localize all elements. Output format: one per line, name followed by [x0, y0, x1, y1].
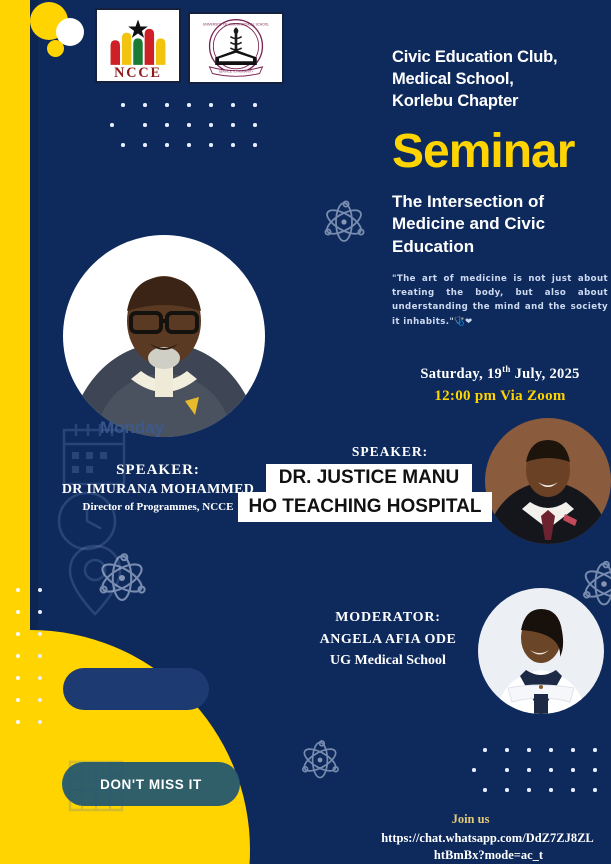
whatsapp-link-line2[interactable]: htBmBx?mode=ac_t	[366, 847, 611, 864]
moderator-photo	[478, 588, 604, 714]
speaker-two-photo	[485, 418, 611, 544]
dot-grid-bottom-right	[483, 748, 611, 808]
svg-text:NCCE: NCCE	[114, 65, 162, 81]
ncce-logo: NCCE	[95, 8, 181, 83]
svg-text:SERVICE TO HUMANITY: SERVICE TO HUMANITY	[219, 70, 254, 74]
speaker-two-portrait	[485, 418, 611, 544]
speaker-one-photo	[63, 235, 265, 437]
speaker-two-hospital-sticker: HO TEACHING HOSPITAL	[238, 492, 492, 522]
speaker-one-label: SPEAKER:	[18, 462, 298, 479]
dot-grid-top	[121, 103, 275, 163]
event-time: 12:00 pm Via Zoom	[392, 388, 608, 405]
atom-icon-left	[92, 548, 152, 608]
join-us-block: Join us https://chat.whatsapp.com/DdZ7ZJ…	[330, 812, 611, 864]
decor-circle-yellow-small	[47, 40, 64, 57]
event-date-ordinal: th	[502, 364, 511, 374]
dont-miss-it-label: DON'T MISS IT	[100, 777, 202, 792]
atom-icon-topic	[318, 196, 370, 248]
event-datetime: Saturday, 19th July, 2025 12:00 pm Via Z…	[392, 364, 608, 405]
event-date-rest: July, 2025	[511, 366, 580, 382]
dot-column-outer	[16, 588, 20, 724]
dont-miss-it-button[interactable]: DON'T MISS IT	[62, 762, 240, 806]
svg-text:UNIVERSITY OF GHANA MEDICAL SC: UNIVERSITY OF GHANA MEDICAL SCHOOL	[203, 22, 269, 26]
page-title: Seminar	[392, 128, 574, 176]
medical-crest-mark: UNIVERSITY OF GHANA MEDICAL SCHOOL SERVI…	[190, 14, 282, 82]
moderator-school: UG Medical School	[288, 653, 488, 669]
moderator-label: MODERATOR:	[288, 610, 488, 626]
speaker-two-name-sticker: DR. JUSTICE MANU	[266, 464, 472, 492]
speaker-two-label: SPEAKER:	[290, 444, 490, 460]
dot-column-inner	[38, 588, 42, 724]
atom-icon-bottom	[296, 736, 344, 784]
photo-watermark: Monday	[100, 418, 164, 438]
join-us-title: Join us	[330, 812, 611, 827]
speaker-one-portrait	[63, 235, 265, 437]
quote-text: "The art of medicine is not just about t…	[392, 272, 608, 329]
moderator-info: MODERATOR: ANGELA AFIA ODE UG Medical Sc…	[288, 610, 488, 669]
organizer-title: Civic Education Club, Medical School, Ko…	[392, 47, 607, 113]
moderator-portrait	[478, 588, 604, 714]
decor-pill-placeholder	[63, 668, 209, 710]
seminar-topic: The Intersection of Medicine and Civic E…	[392, 191, 610, 258]
whatsapp-link-line1[interactable]: https://chat.whatsapp.com/DdZ7ZJ8ZL	[364, 830, 611, 847]
quote-body: "The art of medicine is not just about t…	[392, 274, 608, 327]
left-navy-strip	[30, 0, 38, 640]
event-date: Saturday, 19th July, 2025	[392, 364, 608, 383]
quote-emoji: 🩺❤	[454, 317, 472, 327]
ncce-logo-mark: NCCE	[97, 10, 179, 81]
moderator-name: ANGELA AFIA ODE	[288, 632, 488, 648]
seminar-flyer: NCCE UNIVERSITY OF GHANA MEDICAL SCHOOL …	[0, 0, 611, 864]
event-date-main: Saturday, 19	[420, 366, 502, 382]
medical-school-crest-logo: UNIVERSITY OF GHANA MEDICAL SCHOOL SERVI…	[188, 12, 284, 84]
